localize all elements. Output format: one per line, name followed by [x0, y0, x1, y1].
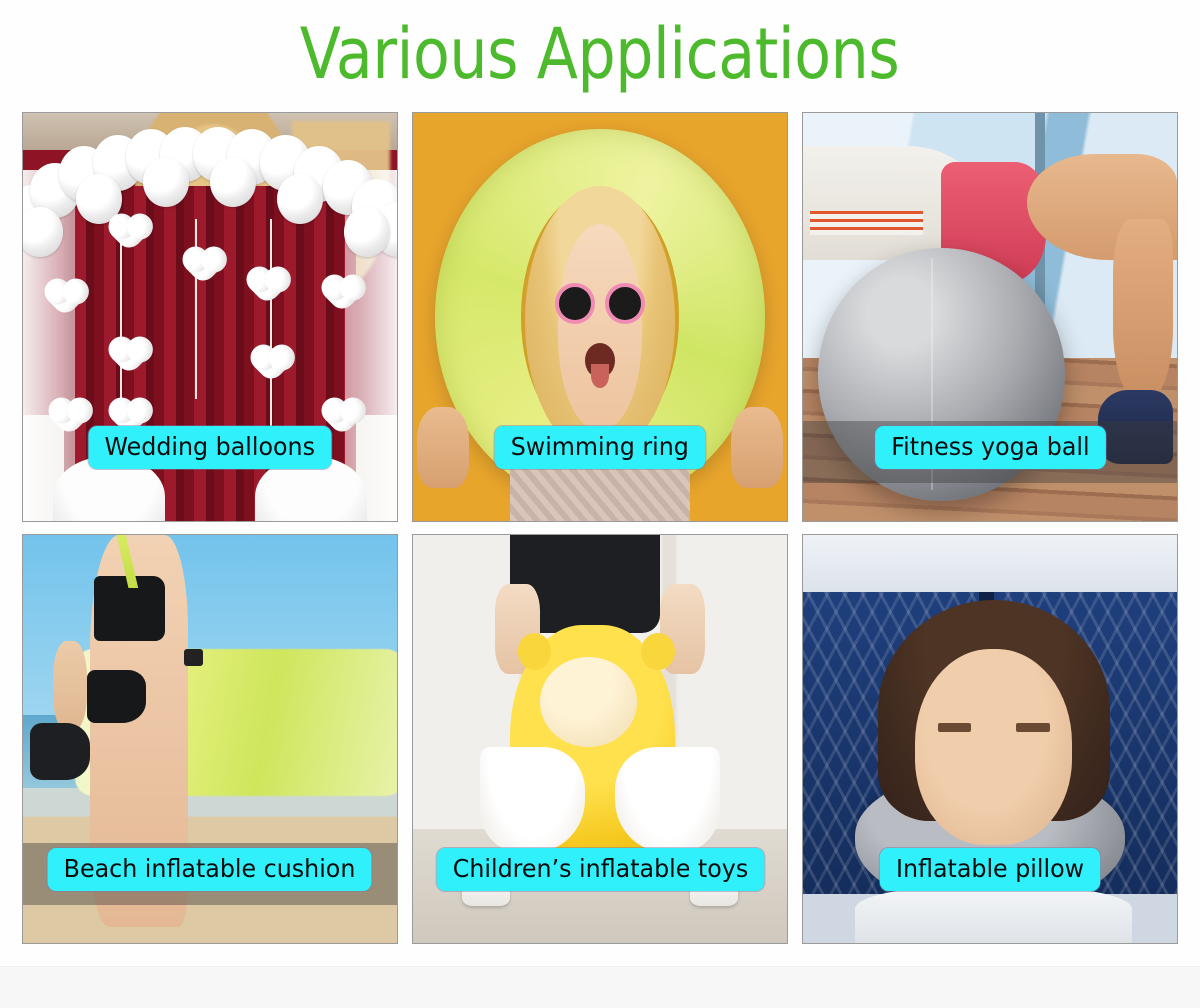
tile-label-row: Fitness yoga ball: [803, 426, 1177, 469]
tile-label-row: Wedding balloons: [23, 426, 397, 469]
tile-fitness-yoga-ball[interactable]: Fitness yoga ball: [802, 112, 1178, 522]
tile-label[interactable]: Children’s inflatable toys: [436, 848, 764, 891]
woman-face: [915, 649, 1072, 845]
dress-shape: [510, 464, 690, 521]
closed-eye-right: [1016, 723, 1050, 732]
closed-eye-left: [938, 723, 972, 732]
sunglass-lens-left: [555, 283, 594, 323]
tile-label[interactable]: Wedding balloons: [89, 426, 332, 469]
tile-label[interactable]: Inflatable pillow: [880, 848, 1100, 891]
application-gallery-page: Various Applications: [0, 0, 1200, 1008]
white-collar: [855, 886, 1132, 943]
tile-label[interactable]: Swimming ring: [495, 426, 705, 469]
tile-label-row: Swimming ring: [413, 426, 787, 469]
swim-fins: [30, 723, 90, 780]
page-title: Various Applications: [300, 15, 899, 93]
tile-beach-inflatable-cushion[interactable]: Beach inflatable cushion: [22, 534, 398, 944]
tile-label-row: Inflatable pillow: [803, 848, 1177, 891]
white-skirt-left: [480, 747, 585, 853]
giraffe-ear-left: [518, 633, 552, 670]
woman-face-group: [525, 186, 675, 455]
application-tiles-grid: Wedding balloons: [22, 112, 1178, 944]
gallery-card: Various Applications: [0, 0, 1200, 967]
tile-label-row: Children’s inflatable toys: [413, 848, 787, 891]
arm: [53, 641, 87, 731]
giraffe-snout: [540, 657, 637, 747]
balloon-arch: [23, 121, 397, 260]
face-shape: [558, 224, 642, 429]
wrist-watch: [184, 649, 203, 665]
page-title-container: Various Applications: [0, 6, 1200, 102]
sunglass-lens-right: [605, 283, 644, 323]
tile-wedding-balloons[interactable]: Wedding balloons: [22, 112, 398, 522]
white-skirt-right: [615, 747, 720, 853]
tile-label[interactable]: Fitness yoga ball: [875, 426, 1106, 469]
tile-label[interactable]: Beach inflatable cushion: [48, 848, 372, 891]
shin: [1113, 219, 1173, 399]
tile-childrens-inflatable-toys[interactable]: Children’s inflatable toys: [412, 534, 788, 944]
tile-inflatable-pillow[interactable]: Inflatable pillow: [802, 534, 1178, 944]
tile-label-row: Beach inflatable cushion: [23, 848, 397, 891]
giraffe-ear-right: [641, 633, 675, 670]
bikini-bottom: [87, 670, 147, 723]
shorts-stripes: [810, 211, 922, 235]
tile-swimming-ring[interactable]: Swimming ring: [412, 112, 788, 522]
pink-sunglasses: [555, 283, 645, 323]
